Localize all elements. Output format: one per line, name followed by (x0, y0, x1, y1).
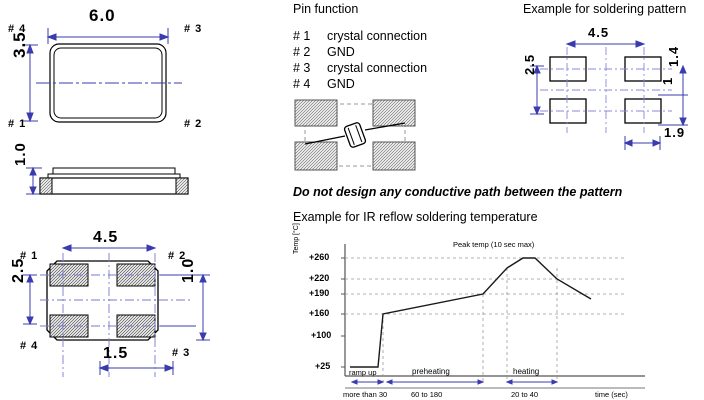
y-tick-100: +100 (311, 330, 331, 340)
pin-number: # 2 (293, 45, 327, 60)
zone-duration-preheating: 60 to 180 (411, 390, 442, 399)
top-view-drawing: 6.0 3.5 # 4 # 3 # 1 # 2 (0, 0, 240, 150)
pin-function-row: # 2 GND (293, 44, 427, 60)
y-tick-220: +220 (309, 273, 329, 283)
reflow-chart-title: Example for IR reflow soldering temperat… (293, 210, 538, 225)
pin-function-list: # 1 crystal connection # 2 GND # 3 cryst… (293, 28, 427, 92)
conductive-path-diagram (295, 100, 415, 170)
pin-function-row: # 4 GND (293, 76, 427, 92)
x-axis-title: time (sec) (595, 390, 628, 399)
soldering-pattern-drawing: 4.5 2.5 1.4 1 1.9 (520, 25, 704, 155)
pin-description: GND (327, 45, 355, 60)
side-view-drawing: 1.0 (0, 150, 240, 220)
peak-temp-annotation: Peak temp (10 sec max) (453, 240, 534, 249)
pin-number: # 1 (293, 29, 327, 44)
dim-pad-height-1-0 (196, 275, 210, 340)
pin-label-2: # 2 (184, 118, 202, 130)
land-pad-top-left (295, 100, 337, 126)
y-ticks (341, 258, 345, 367)
dim-label-pattern-pitch: 1.4 (666, 46, 681, 67)
pin-description: crystal connection (327, 61, 427, 76)
soldering-pattern-title: Example for soldering pattern (523, 2, 686, 17)
gridlines (345, 258, 625, 314)
dim-width-6-0 (48, 28, 168, 44)
y-tick-260: +260 (309, 252, 329, 262)
zone-dividers (383, 268, 557, 382)
dim-pattern-width-4-5 (567, 41, 644, 47)
y-tick-190: +190 (309, 288, 329, 298)
zone-label-heating: heating (513, 367, 539, 376)
pin-label-3: # 3 (184, 23, 202, 35)
pin-description: crystal connection (327, 29, 427, 44)
dim-label-width: 6.0 (89, 6, 116, 26)
zone-duration-ramp-up: more than 30 (343, 390, 387, 399)
reflow-chart: Temp [°C] +260 +220 +190 +160 +100 +25 P… (295, 236, 704, 400)
dim-label-pattern-width: 4.5 (588, 25, 609, 40)
zone-duration-heating: 20 to 40 (511, 390, 538, 399)
pin-number: # 3 (293, 61, 327, 76)
pin-function-row: # 1 crystal connection (293, 28, 427, 44)
package-seal-ring (48, 174, 180, 178)
land-pad-bottom-left (295, 142, 337, 170)
package-body (40, 178, 188, 194)
dim-pattern-pad-1-9 (625, 136, 660, 150)
dim-pattern-pitch-1-4 (658, 66, 688, 125)
bottom-pin-label-2: # 2 (168, 250, 186, 262)
land-pad-bottom-right (373, 142, 415, 170)
land-pad-top-right (373, 100, 415, 126)
bottom-pin-label-3: # 3 (172, 347, 190, 359)
pin-function-row: # 3 crystal connection (293, 60, 427, 76)
terminal-left (40, 178, 52, 194)
dim-label-height: 3.5 (10, 31, 30, 58)
pin-number: # 4 (293, 77, 327, 92)
bottom-pin-label-1: # 1 (20, 250, 38, 262)
temperature-profile-line (350, 258, 591, 367)
y-tick-160: +160 (309, 308, 329, 318)
dim-label-pattern-one: 1 (660, 77, 675, 85)
warning-text: Do not design any conductive path betwee… (293, 185, 622, 199)
dim-label-pad-width: 1.5 (103, 345, 128, 363)
terminal-right (176, 178, 188, 194)
bottom-view-drawing: 4.5 2.5 1.0 1.5 # 1 # 2 # 4 # 3 (0, 225, 240, 400)
y-tick-25: +25 (315, 361, 330, 371)
zone-label-ramp-up: ramp up (349, 368, 377, 377)
dim-label-thickness: 1.0 (12, 142, 29, 166)
crystal-symbol (344, 122, 367, 148)
pin-label-1: # 1 (8, 118, 26, 130)
zone-label-preheating: preheating (412, 367, 450, 376)
pin-description: GND (327, 77, 355, 92)
dim-label-bottom-width: 4.5 (93, 229, 118, 247)
y-axis-title: Temp [°C] (293, 223, 300, 254)
bottom-pin-label-4: # 4 (20, 340, 38, 352)
dim-label-pattern-pad-width: 1.9 (664, 125, 685, 140)
dim-pad-width-1-5 (100, 361, 173, 375)
pin-label-4: # 4 (8, 23, 26, 35)
pin-function-title: Pin function (293, 2, 358, 17)
dim-label-pattern-height: 2.5 (522, 54, 537, 75)
